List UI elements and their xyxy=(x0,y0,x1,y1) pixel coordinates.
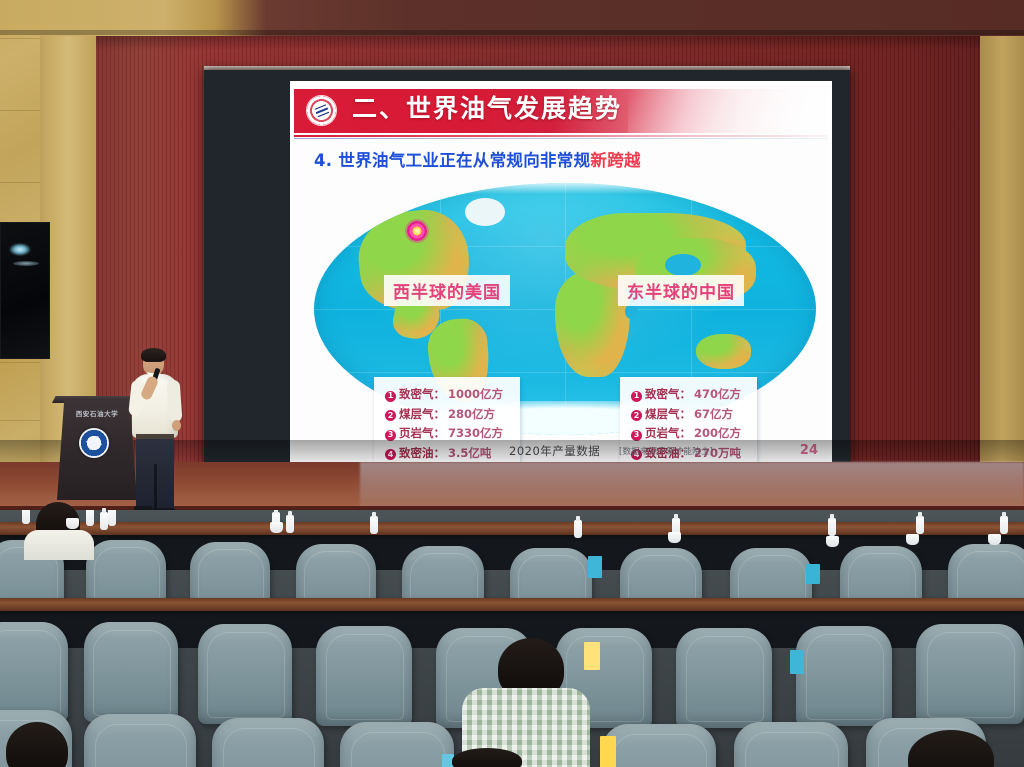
ceiling-seam xyxy=(0,30,1024,35)
caspian-lake xyxy=(665,254,700,277)
auditorium-seat[interactable] xyxy=(734,722,848,767)
data-row: 2煤层气：280亿方 xyxy=(385,405,508,425)
paper-cup xyxy=(270,522,283,533)
data-row: 1致密气：470亿方 xyxy=(631,385,745,405)
monitor-glare xyxy=(9,243,31,256)
slide-header-sheen xyxy=(628,89,828,133)
front-attendee-shirt xyxy=(24,530,94,560)
water-bottle xyxy=(574,520,582,538)
presenter-right-hand xyxy=(172,420,181,431)
back-desk-rail xyxy=(0,522,1024,535)
audience-seating-area xyxy=(0,510,1024,767)
auditorium-seat[interactable] xyxy=(212,718,324,767)
podium-university-name: 西安石油大学 xyxy=(66,408,128,418)
header-rule-secondary xyxy=(294,138,828,139)
water-bottle xyxy=(916,516,924,534)
subtitle-main: 世界油气工业正在从常规向非常规 xyxy=(338,151,590,170)
greenland-landmass xyxy=(465,198,505,226)
label-west-hemisphere: 西半球的美国 xyxy=(384,275,510,306)
label-east-hemisphere: 东半球的中国 xyxy=(618,275,744,306)
monitor-glare-secondary xyxy=(13,261,39,266)
world-map: 西半球的美国 东半球的中国 1致密气：1000亿方 2煤层气：280亿方 3页岩… xyxy=(308,179,822,441)
water-bottle xyxy=(22,510,30,524)
usa-production-marker xyxy=(405,219,429,243)
water-bottle xyxy=(100,512,108,530)
xian-shiyou-university-emblem xyxy=(79,428,109,458)
water-bottle xyxy=(828,518,836,536)
booklet xyxy=(806,564,820,584)
slide-subtitle: 4. 世界油气工业正在从常规向非常规新跨越 xyxy=(314,147,641,171)
presenter-belt xyxy=(136,434,174,439)
glasses-icon xyxy=(145,361,162,364)
subtitle-index: 4. xyxy=(314,151,332,170)
data-row: 2煤层气：67亿方 xyxy=(631,405,745,425)
paper-cup xyxy=(906,534,919,545)
water-bottle xyxy=(286,515,294,533)
booklet xyxy=(600,736,616,767)
australia-landmass xyxy=(696,334,751,369)
african-lake xyxy=(625,304,638,319)
presenter-speaker xyxy=(124,346,190,524)
auditorium-seat[interactable] xyxy=(84,714,196,767)
water-bottle xyxy=(86,510,94,526)
water-bottle xyxy=(370,516,378,534)
subtitle-accent: 新跨越 xyxy=(590,151,640,170)
auditorium-seat[interactable] xyxy=(916,624,1024,724)
right-wall-strip xyxy=(980,26,1024,496)
auditorium-seat[interactable] xyxy=(316,626,412,726)
slide-title: 二、世界油气发展趋势 xyxy=(352,92,622,126)
paper-cup xyxy=(66,518,79,529)
lecture-hall-scene: 二、世界油气发展趋势 4. 世界油气工业正在从常规向非常规新跨越 xyxy=(0,0,1024,767)
data-row: 1致密气：1000亿方 xyxy=(385,385,508,405)
paper-cup xyxy=(668,532,681,543)
wall-mounted-monitor xyxy=(0,222,50,359)
booklet xyxy=(588,556,602,578)
mid-desk-rail xyxy=(0,598,1024,611)
presenter-hair xyxy=(141,348,166,362)
booklet xyxy=(790,650,804,674)
auditorium-seat[interactable] xyxy=(198,624,292,724)
attendee-head xyxy=(452,748,522,767)
water-bottle xyxy=(1000,516,1008,534)
auditorium-seat[interactable] xyxy=(676,628,772,728)
auditorium-seat[interactable] xyxy=(0,622,68,722)
header-rule xyxy=(294,135,828,137)
auditorium-seat[interactable] xyxy=(340,722,454,767)
auditorium-seat[interactable] xyxy=(602,724,716,767)
water-bottle xyxy=(108,510,116,526)
university-crest-icon xyxy=(306,95,337,126)
paper-cup xyxy=(988,534,1001,545)
paper-cup xyxy=(826,536,839,547)
presenter-right-arm xyxy=(167,380,183,423)
booklet xyxy=(584,642,600,670)
auditorium-seat[interactable] xyxy=(84,622,178,722)
presentation-slide: 二、世界油气发展趋势 4. 世界油气工业正在从常规向非常规新跨越 xyxy=(290,81,832,464)
auditorium-seat[interactable] xyxy=(796,626,892,726)
